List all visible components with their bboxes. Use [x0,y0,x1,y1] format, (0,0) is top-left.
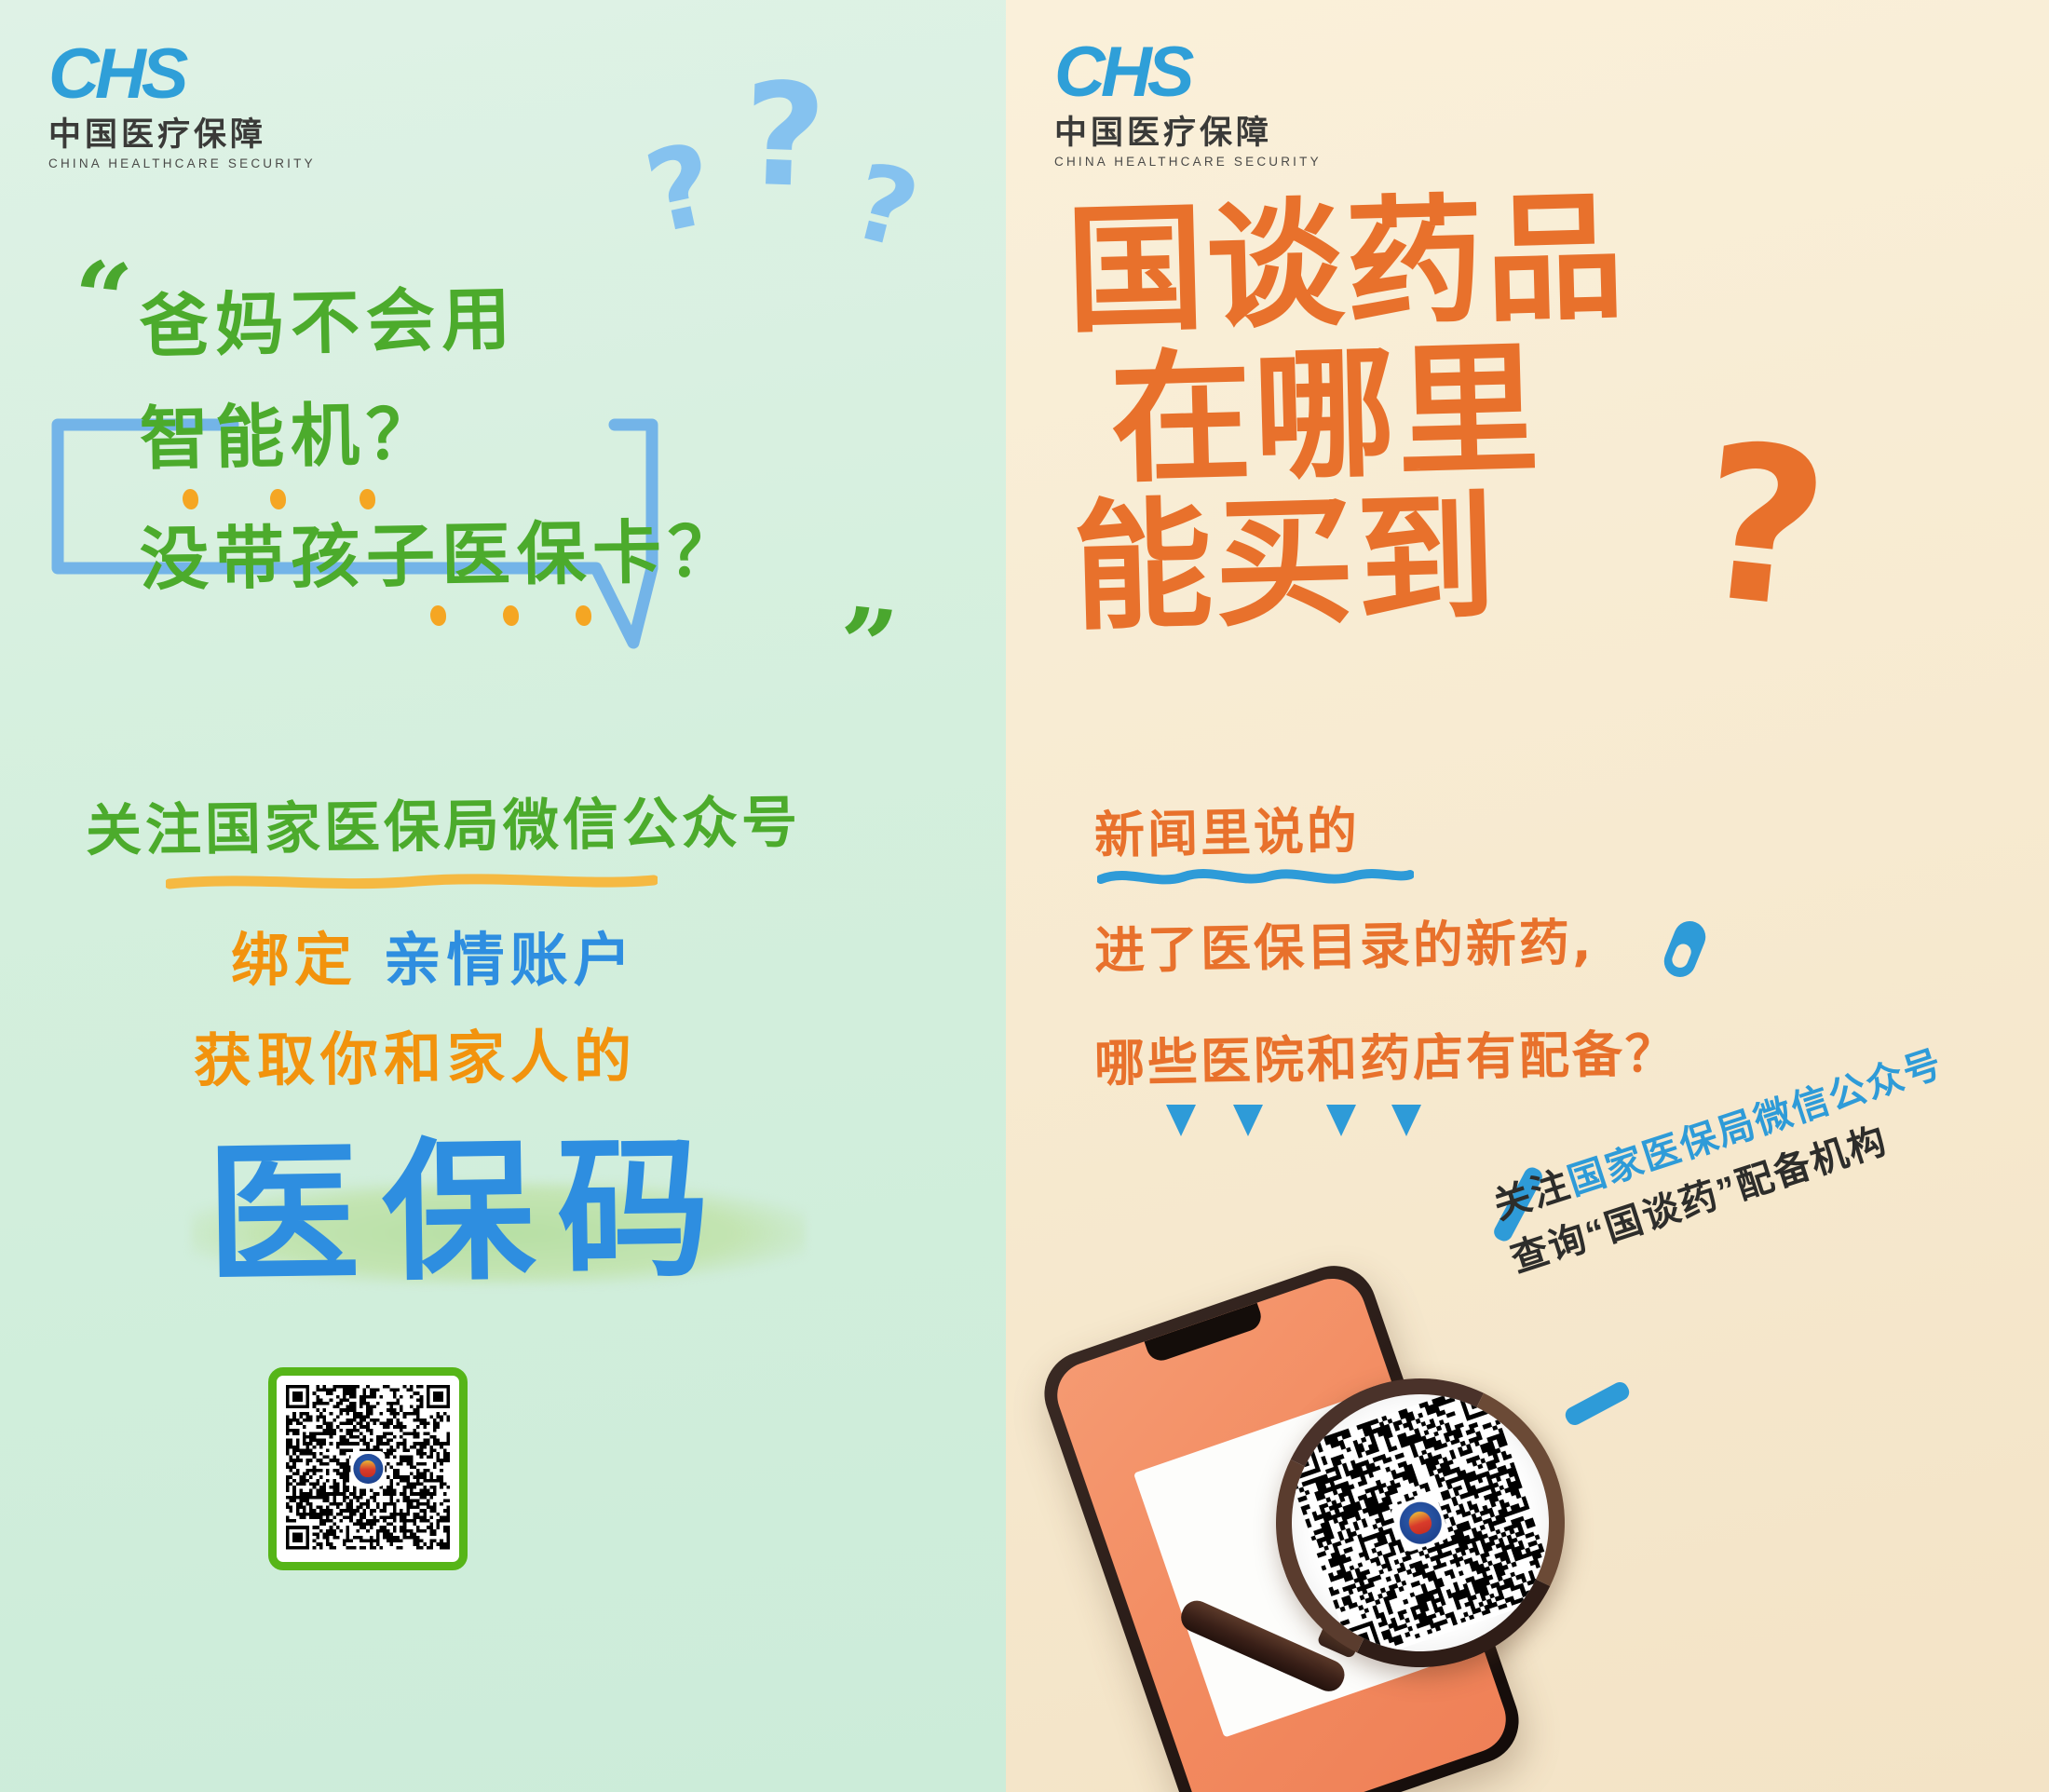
accent-tick-icon [1563,1379,1633,1428]
headline-line-3: 能买到 [1071,488,1499,639]
pill-capsule-icon [1660,916,1711,982]
get-code-text: 获取你和家人的 [194,1028,638,1091]
speech-line-1: 爸妈不会用 [139,285,517,361]
question-mark-icon: ? [743,134,825,137]
left-panel: CHS 中国医疗保障 CHINA HEALTHCARE SECURITY ? ?… [0,0,1006,1792]
speech-line-2: 智能机？ [139,400,441,474]
bind-family-account-row: 绑定 亲情账户 [231,931,637,989]
poster-root: CHS 中国医疗保障 CHINA HEALTHCARE SECURITY ? ?… [0,0,2049,1792]
headline-question-mark: ? [1689,415,1836,642]
quote-open-mark: “ [68,247,136,353]
emphasis-dot [183,489,198,509]
blue-wave-underline [1097,866,1414,887]
medical-insurance-code-title: 医保码 [206,1133,733,1293]
phone-notch [1145,1303,1265,1364]
sub-line-1: 新闻里说的 [1094,807,1361,862]
question-mark-icon: ? [856,199,915,214]
chs-wordmark: CHS [48,39,316,110]
chs-logo-right: CHS 中国医疗保障 CHINA HEALTHCARE SECURITY [1054,37,1322,169]
emphasis-dot [576,605,591,626]
chs-logo-left: CHS 中国医疗保障 CHINA HEALTHCARE SECURITY [48,39,316,170]
national-emblem-icon [353,1454,383,1485]
headline-line-1: 国谈药品 [1065,188,1627,341]
quote-close-mark: ” [834,593,902,699]
qr-code-left[interactable] [268,1367,468,1570]
follow-official-account-text: 关注国家医保局微信公众号 [86,794,802,859]
national-emblem-icon [1393,1496,1446,1549]
triangle-marker-icon [1326,1105,1356,1136]
chs-english-name: CHINA HEALTHCARE SECURITY [48,157,316,170]
emphasis-dot [270,489,286,509]
orange-underline [166,874,658,890]
emphasis-dot [503,605,519,626]
chs-chinese-name: 中国医疗保障 [1054,116,1322,149]
sub-line-2: 进了医保目录的新药, [1094,917,1594,976]
triangle-marker-icon [1391,1105,1421,1136]
emphasis-dot [430,605,446,626]
chs-english-name: CHINA HEALTHCARE SECURITY [1054,156,1322,169]
sub-line-3: 哪些医院和药店有配备？ [1094,1029,1679,1090]
bind-prefix-text: 绑定 [231,926,358,994]
chs-chinese-name: 中国医疗保障 [48,118,316,151]
qr-center-badge [350,1451,385,1487]
triangle-marker-icon [1233,1105,1263,1136]
bind-highlight-text: 亲情账户 [384,926,637,994]
headline-line-2: 在哪里 [1108,339,1542,492]
right-panel: CHS 中国医疗保障 CHINA HEALTHCARE SECURITY 国谈药… [1006,0,2049,1792]
question-mark-icon: ? [649,183,712,197]
emphasis-dot [360,489,375,509]
triangle-marker-icon [1166,1105,1196,1136]
speech-line-3: 没带孩子医保卡？ [140,517,744,594]
chs-wordmark: CHS [1054,37,1322,108]
